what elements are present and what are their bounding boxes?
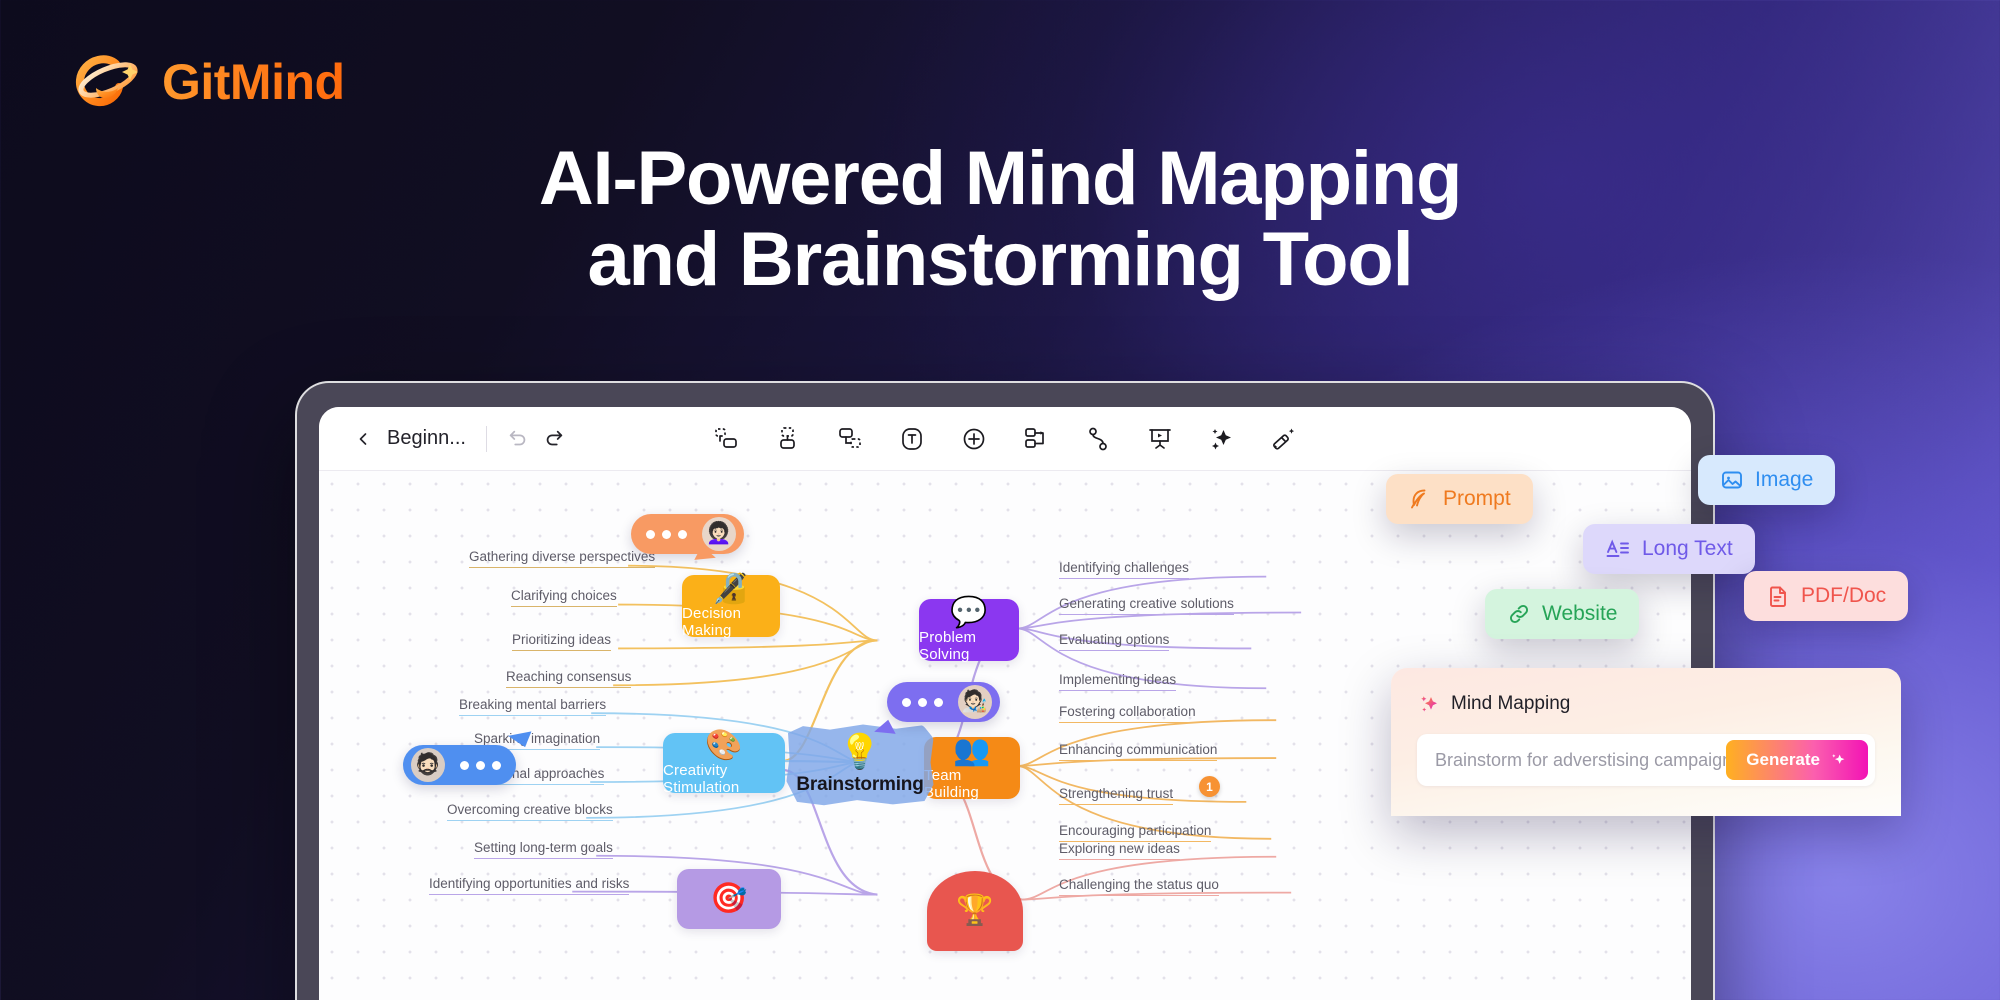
ai-sparkle-icon[interactable]: [1207, 424, 1237, 454]
node-innovation[interactable]: 🏆: [927, 871, 1023, 951]
leaf-label[interactable]: Enhancing communication: [1059, 742, 1217, 761]
insert-branch-node-icon[interactable]: [835, 424, 865, 454]
brand-logo[interactable]: GitMind: [72, 48, 345, 116]
text-box-icon[interactable]: [897, 424, 927, 454]
node-center-brainstorming[interactable]: 💡 Brainstorming: [785, 721, 935, 807]
pill-label: Long Text: [1642, 537, 1733, 561]
node-label: Creativity Stimulation: [663, 762, 785, 796]
sparkle-icon: [1828, 750, 1848, 770]
typing-dots: [453, 761, 508, 770]
feather-pen-icon: [1408, 487, 1432, 511]
node-goal-setting[interactable]: 🎯: [677, 869, 781, 929]
leaf-label[interactable]: Clarifying choices: [511, 588, 617, 607]
leaf-label[interactable]: Gathering diverse perspectives: [469, 549, 655, 568]
node-problem-solving[interactable]: 💬 Problem Solving: [919, 599, 1019, 661]
generate-label: Generate: [1746, 750, 1820, 770]
long-text-icon: [1605, 537, 1631, 561]
leaf-label[interactable]: Reaching consensus: [506, 669, 631, 688]
source-pill-pdf-doc[interactable]: PDF/Doc: [1744, 571, 1908, 621]
pill-label: Prompt: [1443, 487, 1511, 511]
source-pill-prompt[interactable]: Prompt: [1386, 474, 1533, 524]
leaf-label[interactable]: Fostering collaboration: [1059, 704, 1196, 723]
headline-line-2: and Brainstorming Tool: [0, 219, 2000, 300]
node-decision-making[interactable]: 🔏 Decision Making: [682, 575, 780, 637]
node-label: Brainstorming: [796, 774, 923, 796]
ai-mind-mapping-panel: Mind Mapping Generate: [1391, 668, 1901, 816]
undo-icon[interactable]: [507, 428, 529, 450]
leaf-label[interactable]: Breaking mental barriers: [459, 697, 606, 716]
ai-panel-title: Mind Mapping: [1451, 693, 1570, 715]
leaf-label[interactable]: Implementing ideas: [1059, 672, 1176, 691]
source-pill-long-text[interactable]: Long Text: [1583, 524, 1755, 574]
link-icon: [1507, 602, 1531, 626]
ai-sparkle-icon: [1417, 692, 1441, 716]
collaborator-cursor-blue: 🧔🏻: [403, 745, 516, 785]
magic-wand-icon[interactable]: [1269, 424, 1299, 454]
leaf-label[interactable]: Challenging the status quo: [1059, 877, 1219, 896]
image-icon: [1720, 468, 1744, 492]
lightbulb-icon: 💡: [839, 732, 881, 772]
app-toolbar: Beginn...: [319, 407, 1691, 471]
team-icon: 👥: [953, 736, 990, 766]
node-label: Problem Solving: [919, 629, 1019, 663]
leaf-label[interactable]: Prioritizing ideas: [512, 632, 611, 651]
podium-icon: 🏆: [956, 896, 993, 926]
generate-button[interactable]: Generate: [1726, 740, 1868, 780]
avatar: 👩🏻‍🦱: [702, 517, 736, 551]
layout-flow-icon[interactable]: [1021, 424, 1051, 454]
typing-dots: [639, 530, 694, 539]
ai-prompt-input[interactable]: [1435, 750, 1726, 771]
pill-label: Image: [1755, 468, 1813, 492]
collaborator-cursor-purple: 🧑🏻‍🎨: [887, 682, 1000, 722]
pill-label: Website: [1542, 602, 1617, 626]
relationship-line-icon[interactable]: [1083, 424, 1113, 454]
palette-icon: 🎨: [705, 731, 742, 761]
pdf-doc-icon: [1766, 584, 1790, 608]
gitmind-planet-logo: [72, 48, 144, 116]
plus-circle-icon[interactable]: [959, 424, 989, 454]
toolbar-divider: [486, 426, 487, 452]
presentation-icon[interactable]: [1145, 424, 1175, 454]
leaf-label[interactable]: Setting long-term goals: [474, 840, 613, 859]
pill-label: PDF/Doc: [1801, 584, 1886, 608]
typing-dots: [895, 698, 950, 707]
avatar: 🧑🏻‍🎨: [958, 685, 992, 719]
node-team-building[interactable]: 👥 Team Building: [924, 737, 1020, 799]
leaf-label[interactable]: Identifying opportunities and risks: [429, 876, 629, 895]
leaf-label[interactable]: Generating creative solutions: [1059, 596, 1234, 615]
comment-count-badge[interactable]: 1: [1199, 776, 1220, 797]
collaborator-cursor-orange: 👩🏻‍🦱: [631, 514, 744, 554]
leaf-label[interactable]: Overcoming creative blocks: [447, 802, 613, 821]
leaf-label[interactable]: Encouraging participation: [1059, 823, 1211, 842]
source-pill-website[interactable]: Website: [1485, 589, 1639, 639]
insert-child-node-icon[interactable]: [773, 424, 803, 454]
leaf-label[interactable]: Exploring new ideas: [1059, 841, 1180, 860]
brand-name: GitMind: [162, 53, 345, 111]
avatar: 🧔🏻: [411, 748, 445, 782]
node-label: Team Building: [924, 767, 1020, 801]
node-label: Decision Making: [682, 605, 780, 639]
leaf-label[interactable]: Strengthening trust: [1059, 786, 1173, 805]
source-pill-image[interactable]: Image: [1698, 455, 1835, 505]
document-title[interactable]: Beginn...: [387, 427, 466, 450]
target-icon: 🎯: [710, 884, 747, 914]
leaf-label[interactable]: Evaluating options: [1059, 632, 1169, 651]
ai-panel-header: Mind Mapping: [1417, 692, 1875, 716]
ai-prompt-row: Generate: [1417, 734, 1875, 786]
headline-line-1: AI-Powered Mind Mapping: [0, 138, 2000, 219]
page-title: AI-Powered Mind Mapping and Brainstormin…: [0, 138, 2000, 301]
chevron-left-icon[interactable]: [353, 429, 373, 449]
stamp-icon: 🔏: [712, 574, 749, 604]
insert-sibling-node-icon[interactable]: [711, 424, 741, 454]
chat-qa-icon: 💬: [950, 598, 987, 628]
leaf-label[interactable]: Identifying challenges: [1059, 560, 1189, 579]
redo-icon[interactable]: [543, 428, 565, 450]
node-creativity-stimulation[interactable]: 🎨 Creativity Stimulation: [663, 733, 785, 793]
